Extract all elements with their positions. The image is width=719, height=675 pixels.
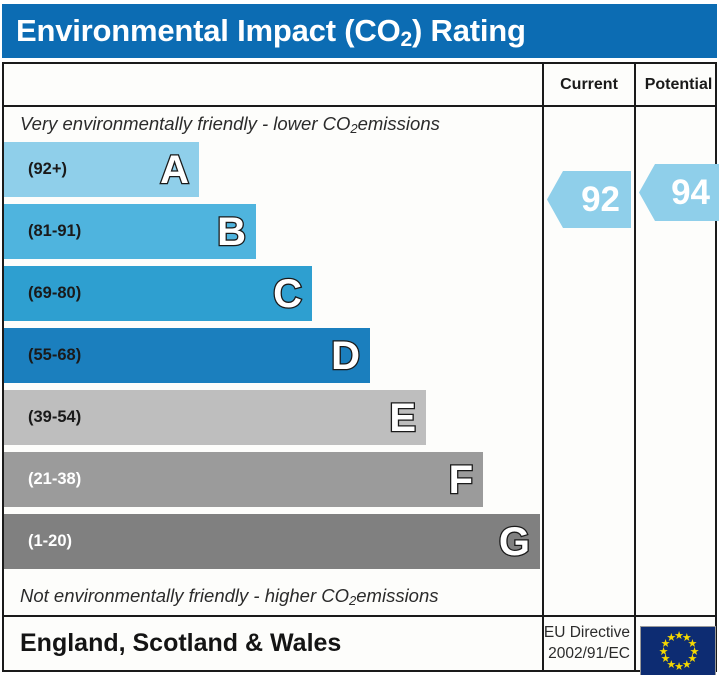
- caption-bottom-prefix: Not environmentally friendly - higher CO: [20, 585, 349, 607]
- band-range-label: (81-91): [4, 222, 81, 241]
- rating-table: Current Potential Very environmentally f…: [2, 62, 717, 672]
- rating-band-b: (81-91)B: [4, 204, 256, 259]
- title-subscript: 2: [401, 28, 412, 51]
- current-rating-arrow: 92: [547, 171, 631, 228]
- band-letter-label: G: [499, 522, 530, 562]
- band-letter-label: B: [217, 212, 246, 252]
- rating-band-c: (69-80)C: [4, 266, 312, 321]
- band-letter-label: E: [389, 398, 416, 438]
- band-range-label: (92+): [4, 160, 67, 179]
- rating-bands: (92+)A(81-91)B(69-80)C(55-68)D(39-54)E(2…: [4, 142, 542, 578]
- potential-rating-arrow: 94: [639, 164, 719, 221]
- eu-directive-label: EU Directive 2002/91/EC: [524, 617, 636, 670]
- caption-very-friendly: Very environmentally friendly - lower CO…: [4, 107, 542, 141]
- caption-top-prefix: Very environmentally friendly - lower CO: [20, 113, 350, 135]
- eu-directive-line2: 2002/91/EC: [548, 644, 630, 664]
- caption-top-subscript: 2: [350, 121, 357, 136]
- band-letter-label: A: [160, 150, 189, 190]
- band-letter-label: C: [273, 274, 302, 314]
- column-divider-current: [542, 64, 544, 670]
- caption-bottom-subscript: 2: [349, 593, 356, 608]
- band-range-label: (39-54): [4, 408, 81, 427]
- band-range-label: (69-80): [4, 284, 81, 303]
- potential-rating-value: 94: [671, 175, 710, 210]
- column-header-current: Current: [544, 64, 634, 105]
- rating-band-e: (39-54)E: [4, 390, 426, 445]
- band-range-label: (21-38): [4, 470, 81, 489]
- rating-band-f: (21-38)F: [4, 452, 483, 507]
- caption-not-friendly: Not environmentally friendly - higher CO…: [4, 579, 542, 613]
- band-letter-label: D: [331, 336, 360, 376]
- rating-band-d: (55-68)D: [4, 328, 370, 383]
- band-range-label: (55-68): [4, 346, 81, 365]
- column-header-potential: Potential: [636, 64, 719, 105]
- column-divider-potential: [634, 64, 636, 670]
- band-letter-label: F: [449, 460, 473, 500]
- chart-title-banner: Environmental Impact (CO2) Rating: [2, 4, 717, 58]
- band-range-label: (1-20): [4, 532, 72, 551]
- eu-flag-icon: ★★★★★★★★★★★★: [640, 626, 716, 675]
- rating-band-g: (1-20)G: [4, 514, 540, 569]
- eu-directive-line1: EU Directive: [544, 623, 630, 643]
- caption-top-suffix: emissions: [358, 113, 440, 135]
- title-prefix: Environmental Impact (CO: [16, 13, 401, 48]
- rating-band-a: (92+)A: [4, 142, 199, 197]
- current-rating-value: 92: [581, 182, 620, 217]
- page-title: Environmental Impact (CO2) Rating: [2, 13, 526, 49]
- caption-bottom-suffix: emissions: [356, 585, 438, 607]
- footer-region-label: England, Scotland & Wales: [4, 617, 542, 670]
- environmental-impact-rating-chart: Environmental Impact (CO2) Rating Curren…: [0, 0, 719, 675]
- title-suffix: ) Rating: [412, 13, 526, 48]
